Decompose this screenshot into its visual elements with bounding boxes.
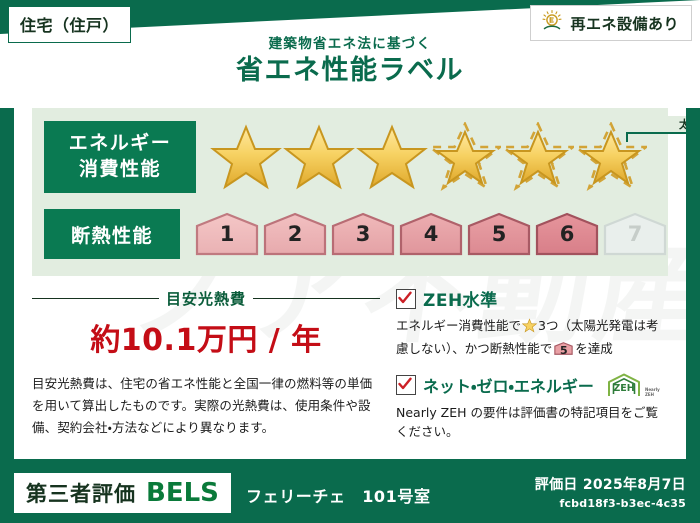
- solar-sun-icon: [540, 9, 564, 37]
- utility-cost-note: 目安光熱費は、住宅の省エネ性能と全国一律の燃料等の単価を用いて算出したものです。…: [32, 373, 380, 439]
- grade-chip-5: 5: [466, 211, 532, 257]
- grade-chip-6: 6: [534, 211, 600, 257]
- energy-performance-row: エネルギー 消費性能 太陽光発電(自家消費)分: [32, 120, 668, 194]
- star-filled: [356, 122, 428, 192]
- grade-chip-3: 3: [330, 211, 396, 257]
- star-filled: [210, 122, 282, 192]
- inline-grade-chip: 5: [554, 340, 573, 357]
- grade-chip-label: 2: [262, 222, 328, 246]
- renewable-energy-badge: 再エネ設備あり: [530, 5, 692, 41]
- zeh-netzero-row: ネット・ゼロ・エネルギー ZEH Nearly ZEH: [396, 372, 668, 398]
- evaluation-date: 評価日 2025年8月7日: [535, 474, 686, 494]
- grade-chip-label: 5: [466, 222, 532, 246]
- zeh-netzero-title: ネット・ゼロ・エネルギー: [423, 373, 594, 397]
- category-tag: 住宅（住戸）: [8, 6, 131, 43]
- grade-chip-label: 1: [194, 222, 260, 246]
- star-solar: [429, 122, 501, 192]
- grade-chip-label: 7: [602, 222, 668, 246]
- insulation-grade-scale: 1 2: [180, 208, 668, 260]
- page-title: 省エネ性能ラベル: [0, 56, 700, 86]
- grade-chip-label: 4: [398, 222, 464, 246]
- zeh-standard-title: ZEH水準: [423, 286, 498, 311]
- utility-cost-heading: 目安光熱費: [32, 288, 380, 309]
- zeh-desc-part1: エネルギー消費性能で: [396, 318, 521, 333]
- rule-left: [32, 298, 159, 300]
- building-name: フェリーチェ 101号室: [246, 483, 431, 507]
- footer-bar: 第三者評価 BELS フェリーチェ 101号室 評価日 2025年8月7日 fc…: [0, 465, 700, 523]
- star-solar: [502, 122, 574, 192]
- insulation-performance-label: 断熱性能: [44, 209, 180, 259]
- energy-star-rating: 太陽光発電(自家消費)分: [196, 120, 668, 194]
- utility-cost-heading-text: 目安光熱費: [166, 288, 246, 309]
- evaluation-info: 評価日 2025年8月7日 fcbd18f3-b3ec-4c35: [535, 474, 686, 510]
- performance-panel: エネルギー 消費性能 太陽光発電(自家消費)分: [32, 108, 668, 276]
- inline-grade-chip-label: 5: [554, 342, 573, 359]
- grade-chip-label: 3: [330, 222, 396, 246]
- svg-text:ZEH: ZEH: [645, 392, 654, 397]
- grade-chip-7: 7: [602, 211, 668, 257]
- zeh-desc-part2: を達成: [575, 341, 613, 356]
- zeh-block: ZEH水準 エネルギー消費性能で3つ（太陽光発電は考慮しない）、かつ断熱性能で5…: [396, 286, 668, 442]
- utility-cost-value: 約10.1万円 / 年: [32, 315, 380, 359]
- checkbox-checked-icon: [396, 289, 416, 309]
- energy-label-line2: 消費性能: [79, 157, 161, 183]
- energy-label-line1: エネルギー: [69, 131, 172, 157]
- zeh-logo-icon: ZEH Nearly ZEH: [605, 372, 661, 398]
- utility-cost-block: 目安光熱費 約10.1万円 / 年 目安光熱費は、住宅の省エネ性能と全国一律の燃…: [32, 286, 380, 439]
- grade-chip-4: 4: [398, 211, 464, 257]
- zeh-standard-row: ZEH水準: [396, 286, 668, 311]
- evaluation-id: fcbd18f3-b3ec-4c35: [535, 497, 686, 510]
- grade-chip-label: 6: [534, 222, 600, 246]
- solar-bracket-label: 太陽光発電(自家消費)分: [632, 116, 686, 132]
- zeh-standard-desc: エネルギー消費性能で3つ（太陽光発電は考慮しない）、かつ断熱性能で5を達成: [396, 316, 668, 359]
- grade-chip-2: 2: [262, 211, 328, 257]
- renewable-badge-label: 再エネ設備あり: [570, 13, 679, 34]
- svg-text:ZEH: ZEH: [613, 383, 634, 394]
- label-card: ノア不動産 エネルギー 消費性能 太陽光発電(自家消費)分: [14, 96, 686, 459]
- lower-section: 目安光熱費 約10.1万円 / 年 目安光熱費は、住宅の省エネ性能と全国一律の燃…: [32, 286, 668, 448]
- insulation-performance-row: 断熱性能 1: [32, 206, 668, 262]
- bels-jp-label: 第三者評価: [26, 478, 136, 508]
- star-filled: [283, 122, 355, 192]
- checkbox-checked-icon: [396, 375, 416, 395]
- bels-en-label: BELS: [146, 478, 219, 508]
- bels-logo-box: 第三者評価 BELS: [14, 473, 231, 513]
- inline-star-icon: [522, 318, 537, 339]
- bels-energy-label: 住宅（住戸） 再エネ設備あり 建築物省エネ法に基づく 省エネ性: [0, 0, 700, 523]
- energy-performance-label: エネルギー 消費性能: [44, 121, 196, 193]
- grade-chip-1: 1: [194, 211, 260, 257]
- zeh-netzero-desc: Nearly ZEH の要件は評価書の特記項目をご覧ください。: [396, 403, 668, 443]
- title-block: 建築物省エネ法に基づく 省エネ性能ラベル: [0, 38, 700, 85]
- rule-right: [253, 298, 380, 300]
